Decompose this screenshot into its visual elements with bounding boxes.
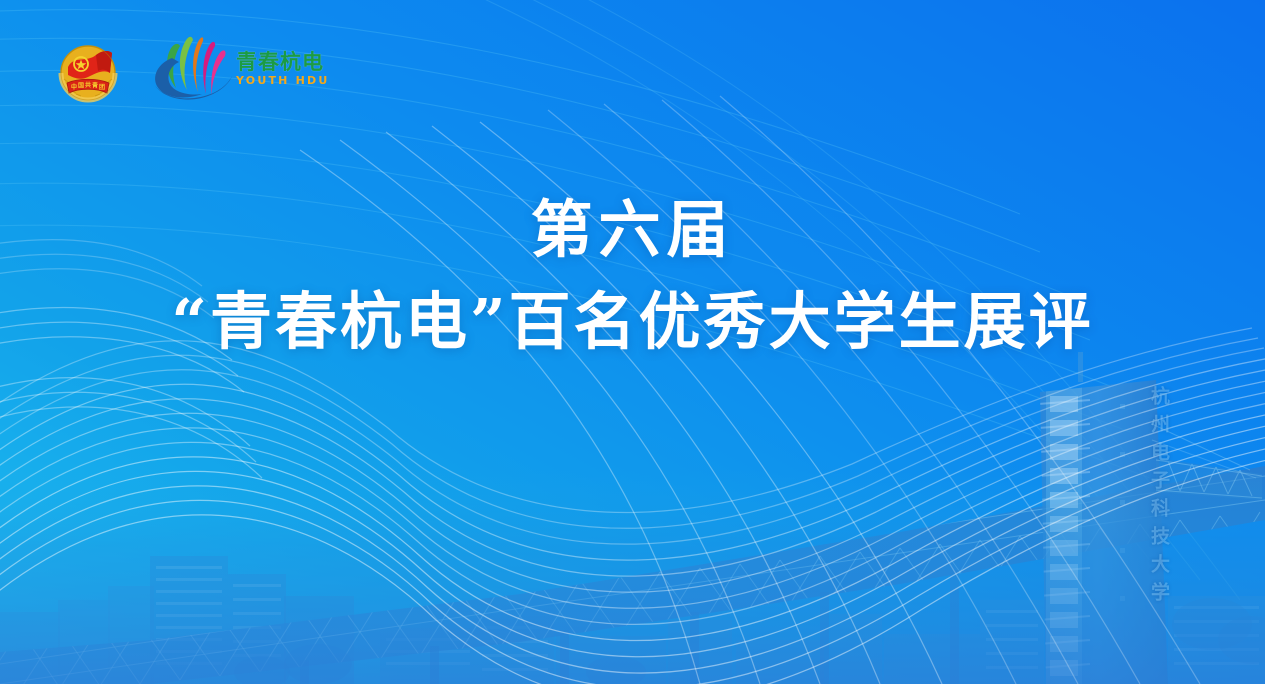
hdu-brand-cn: 青春杭电 bbox=[236, 51, 329, 73]
poster-canvas: 杭州电子科技大学 中国共青团 bbox=[0, 0, 1265, 684]
svg-text:青: 青 bbox=[92, 82, 98, 90]
title-line-2: “青春杭电”百名优秀大学生展评 bbox=[0, 288, 1265, 356]
youth-hdu-logo: 青春杭电 YOUTH HDU bbox=[146, 34, 329, 104]
poster-title: 第六届 “青春杭电”百名优秀大学生展评 bbox=[0, 196, 1265, 356]
svg-text:中: 中 bbox=[71, 83, 77, 91]
svg-text:共: 共 bbox=[85, 81, 91, 89]
communist-youth-league-emblem: 中国共青团 bbox=[52, 33, 124, 105]
title-line-1: 第六届 bbox=[0, 196, 1265, 264]
hdu-brand-en: YOUTH HDU bbox=[236, 74, 329, 87]
svg-text:国: 国 bbox=[78, 82, 84, 90]
header-logos: 中国共青团 青春杭电 YOUTH HDU bbox=[52, 33, 329, 105]
youth-hdu-petal-mark bbox=[146, 34, 238, 104]
tower-vertical-text: 杭州电子科技大学 bbox=[1146, 386, 1173, 610]
svg-text:团: 团 bbox=[99, 83, 105, 91]
